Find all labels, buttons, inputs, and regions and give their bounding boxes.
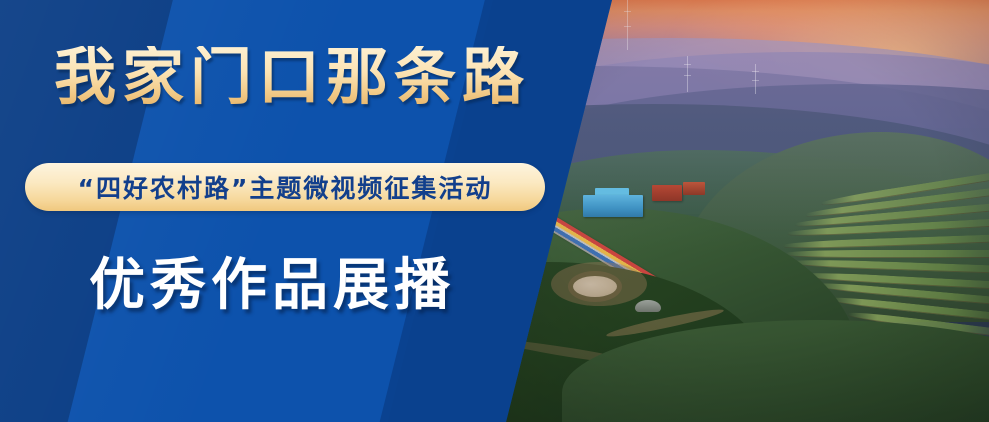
theme-badge: “四好农村路”主题微视频征集活动 — [25, 163, 545, 211]
red-roof-house — [683, 182, 705, 195]
banner-content: 我家门口那条路 “四好农村路”主题微视频征集活动 优秀作品展播 — [0, 0, 640, 422]
page-title: 我家门口那条路 — [32, 46, 552, 108]
red-roof-house — [652, 185, 682, 201]
theme-badge-label: “四好农村路”主题微视频征集活动 — [78, 169, 493, 205]
promo-banner: 我家门口那条路 “四好农村路”主题微视频征集活动 优秀作品展播 — [0, 0, 989, 422]
page-subtitle: 优秀作品展播 — [32, 255, 512, 317]
